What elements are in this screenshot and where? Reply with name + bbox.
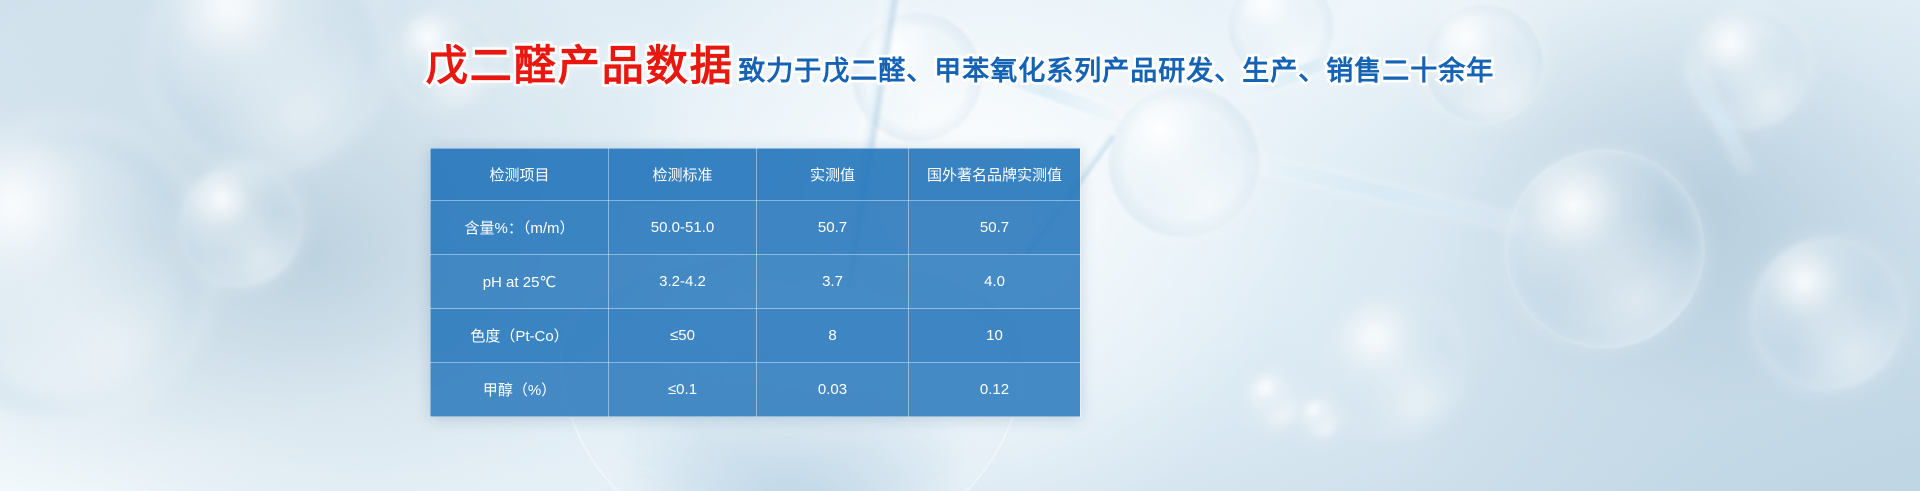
column-header-foreign: 国外著名品牌实测值 — [909, 149, 1081, 201]
column-header-measured: 实测值 — [757, 149, 909, 201]
page-title: 戊二醛产品数据 — [426, 45, 734, 87]
table-row: 色度（Pt-Co） ≤50 8 10 — [431, 309, 1081, 363]
cell-foreign: 4.0 — [909, 255, 1081, 309]
bubble-decor — [0, 120, 212, 422]
cell-measured: 0.03 — [757, 363, 909, 417]
cell-item: 色度（Pt-Co） — [431, 309, 609, 363]
cell-foreign: 10 — [909, 309, 1081, 363]
product-data-table: 检测项目 检测标准 实测值 国外著名品牌实测值 含量%：（m/m） 50.0-5… — [430, 148, 1081, 417]
table-header-row: 检测项目 检测标准 实测值 国外著名品牌实测值 — [431, 149, 1081, 201]
cell-foreign: 0.12 — [909, 363, 1081, 417]
molecule-node-icon — [1108, 86, 1260, 238]
cell-item: pH at 25℃ — [431, 255, 609, 309]
cell-measured: 50.7 — [757, 201, 909, 255]
product-data-table-wrap: 检测项目 检测标准 实测值 国外著名品牌实测值 含量%：（m/m） 50.0-5… — [430, 148, 1080, 417]
column-header-item: 检测项目 — [431, 149, 609, 201]
molecule-node-icon — [1752, 238, 1904, 390]
table-row: 甲醇（%） ≤0.1 0.03 0.12 — [431, 363, 1081, 417]
bubble-decor — [180, 165, 302, 287]
cell-measured: 8 — [757, 309, 909, 363]
cell-standard: ≤0.1 — [609, 363, 757, 417]
cell-item: 含量%：（m/m） — [431, 201, 609, 255]
molecule-bond — [1248, 155, 1524, 232]
cell-foreign: 50.7 — [909, 201, 1081, 255]
cell-item: 甲醇（%） — [431, 363, 609, 417]
cell-standard: ≤50 — [609, 309, 757, 363]
table-row: 含量%：（m/m） 50.0-51.0 50.7 50.7 — [431, 201, 1081, 255]
product-data-banner: 戊二醛产品数据 致力于戊二醛、甲苯氧化系列产品研发、生产、销售二十余年 检测项目… — [0, 0, 1920, 491]
bubble-decor — [1330, 300, 1462, 432]
column-header-standard: 检测标准 — [609, 149, 757, 201]
table-row: pH at 25℃ 3.2-4.2 3.7 4.0 — [431, 255, 1081, 309]
page-subtitle: 致力于戊二醛、甲苯氧化系列产品研发、生产、销售二十余年 — [738, 58, 1494, 85]
bubble-decor — [1246, 372, 1302, 428]
cell-standard: 50.0-51.0 — [609, 201, 757, 255]
bubble-decor — [1300, 398, 1340, 438]
cell-standard: 3.2-4.2 — [609, 255, 757, 309]
table-body: 含量%：（m/m） 50.0-51.0 50.7 50.7 pH at 25℃ … — [431, 201, 1081, 417]
molecule-node-icon — [1506, 150, 1704, 348]
banner-headings: 戊二醛产品数据 致力于戊二醛、甲苯氧化系列产品研发、生产、销售二十余年 — [0, 44, 1920, 87]
cell-measured: 3.7 — [757, 255, 909, 309]
